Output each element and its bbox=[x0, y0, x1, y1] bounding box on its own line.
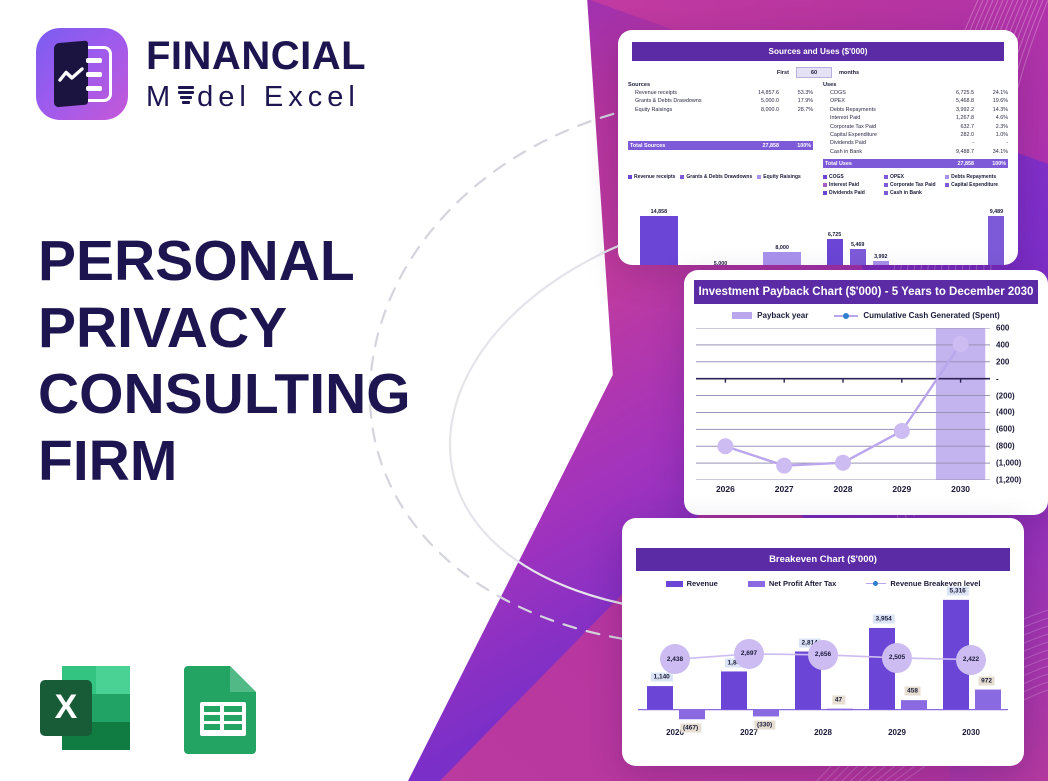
uses-bar-chart: 6,7255,4693,9921,26863328209,489 bbox=[823, 202, 1008, 265]
bar-column: 8,000 bbox=[763, 202, 801, 265]
legend-label: Capital Expenditure bbox=[951, 182, 998, 188]
bar-column: 1,268 bbox=[896, 202, 912, 265]
bar-value-label: 9,489 bbox=[990, 209, 1004, 215]
uses-header: Uses bbox=[823, 82, 1008, 88]
sources-value: 5,000.0 bbox=[739, 97, 779, 105]
bar-value-label: 14,858 bbox=[651, 209, 668, 215]
legend-label-cumulative-cash: Cumulative Cash Generated (Spent) bbox=[863, 311, 999, 320]
months-selector-row: First 60 months bbox=[618, 67, 1018, 78]
payback-y-axis-labels: 600400200-(200)(400)(600)(800)(1,000)(1,… bbox=[992, 328, 1044, 480]
legend-label: COGS bbox=[829, 174, 844, 180]
legend-item: Corporate Tax Paid bbox=[884, 182, 945, 188]
legend-swatch-icon bbox=[628, 175, 632, 179]
breakeven-plot-area: 1,140(467)2,4381,848(330)2,6972,814472,6… bbox=[638, 594, 1008, 722]
legend-label: Debts Repayments bbox=[951, 174, 996, 180]
revenue-value-label: 1,140 bbox=[651, 673, 673, 682]
sources-value: 8,000.0 bbox=[739, 106, 779, 114]
sources-and-uses-card[interactable]: Sources and Uses ($'000) First 60 months… bbox=[618, 30, 1018, 265]
legend-swatch-icon bbox=[823, 191, 827, 195]
legend-item-payback-year: Payback year bbox=[732, 311, 808, 320]
bar-column: 633 bbox=[919, 202, 935, 265]
financial-model-excel-logo-icon bbox=[36, 28, 128, 120]
payback-x-axis-labels: 20262027202820292030 bbox=[696, 484, 990, 494]
sources-row: Revenue receipts14,857.653.3% bbox=[628, 89, 813, 97]
uses-value: 282.0 bbox=[934, 131, 974, 139]
legend-swatch-icon bbox=[757, 175, 761, 179]
x-tick-label: 2029 bbox=[860, 728, 934, 737]
bar-value-label: 3,992 bbox=[874, 254, 888, 260]
bar-column: 6,725 bbox=[827, 202, 843, 265]
sources-pct: 17.9% bbox=[779, 97, 813, 105]
x-tick-label: 2028 bbox=[786, 728, 860, 737]
sources-pct: 53.3% bbox=[779, 89, 813, 97]
bar-value-label: 8,000 bbox=[775, 245, 789, 251]
sources-bar-chart: 14,8585,0008,000 bbox=[628, 202, 813, 265]
uses-label: Dividends Paid bbox=[823, 139, 934, 147]
net-profit-value-label: 458 bbox=[904, 687, 921, 696]
months-suffix-label: months bbox=[839, 70, 859, 76]
google-sheets-icon bbox=[174, 662, 272, 754]
legend-item: Cash in Bank bbox=[884, 190, 945, 196]
x-tick-label: 2029 bbox=[872, 484, 931, 494]
bar-rect bbox=[763, 252, 801, 265]
legend-item: Dividends Paid bbox=[823, 190, 884, 196]
uses-value: 1,267.8 bbox=[934, 114, 974, 122]
logo-document-shape bbox=[54, 41, 88, 108]
y-tick-label: 600 bbox=[996, 324, 1009, 333]
legend-item: OPEX bbox=[884, 174, 945, 180]
uses-pct: 19.6% bbox=[974, 97, 1008, 105]
cumulative-cash-line-icon bbox=[834, 315, 858, 317]
sources-spacer bbox=[628, 114, 813, 138]
bar-rect bbox=[850, 249, 866, 265]
legend-label-net-profit: Net Profit After Tax bbox=[769, 579, 837, 588]
uses-row: Debts Repayments3,992.214.3% bbox=[823, 106, 1008, 114]
sources-header: Sources bbox=[628, 82, 813, 88]
legend-item-cumulative-cash: Cumulative Cash Generated (Spent) bbox=[834, 311, 999, 320]
sources-uses-tables: Sources Revenue receipts14,857.653.3%Gra… bbox=[618, 78, 1018, 168]
legend-label: Dividends Paid bbox=[829, 190, 865, 196]
y-tick-label: (1,000) bbox=[996, 459, 1021, 468]
breakeven-level-line-icon bbox=[866, 583, 886, 585]
uses-label: Interest Paid bbox=[823, 114, 934, 122]
uses-value: 632.7 bbox=[934, 123, 974, 131]
sources-total-pct: 100% bbox=[779, 143, 813, 149]
legend-item: Revenue receipts bbox=[628, 174, 675, 180]
legend-swatch-icon bbox=[945, 175, 949, 179]
uses-pct: 24.1% bbox=[974, 89, 1008, 97]
app-icons: X bbox=[36, 662, 272, 754]
bar-column: 0 bbox=[965, 202, 981, 265]
months-input[interactable]: 60 bbox=[796, 67, 832, 78]
legend-swatch-icon bbox=[884, 175, 888, 179]
uses-table: Uses COGS6,725.524.1%OPEX5,468.819.6%Deb… bbox=[823, 82, 1008, 168]
uses-label: COGS bbox=[823, 89, 934, 97]
uses-label: Debts Repayments bbox=[823, 106, 934, 114]
y-tick-label: (600) bbox=[996, 425, 1015, 434]
uses-total-pct: 100% bbox=[974, 161, 1008, 167]
breakeven-card[interactable]: Breakeven Chart ($'000) Revenue Net Prof… bbox=[622, 518, 1024, 766]
legend-item: Grants & Debts Drawdowns bbox=[680, 174, 752, 180]
uses-row: COGS6,725.524.1% bbox=[823, 89, 1008, 97]
legend-item: Debts Repayments bbox=[945, 174, 1006, 180]
net-profit-value-label: (467) bbox=[680, 724, 701, 733]
legend-swatch-icon bbox=[823, 175, 827, 179]
uses-total-label: Total Uses bbox=[823, 161, 934, 167]
legend-label: Equity Raisings bbox=[763, 174, 801, 180]
uses-pct: 34.1% bbox=[974, 148, 1008, 156]
uses-total-value: 27,858 bbox=[934, 161, 974, 167]
uses-total-row: Total Uses 27,858 100% bbox=[823, 159, 1008, 168]
x-tick-label: 2026 bbox=[696, 484, 755, 494]
legend-swatch-icon bbox=[823, 183, 827, 187]
y-tick-label: (1,200) bbox=[996, 476, 1021, 485]
payback-year-swatch-icon bbox=[732, 312, 752, 319]
sources-label: Equity Raisings bbox=[628, 106, 739, 114]
brand-subtitle: M del Excel bbox=[146, 83, 366, 112]
brand-subtitle-prefix: M bbox=[146, 83, 175, 112]
sources-row: Equity Raisings8,000.028.7% bbox=[628, 106, 813, 114]
y-tick-label: (200) bbox=[996, 391, 1015, 400]
bar-column: 3,992 bbox=[873, 202, 889, 265]
bar-rect bbox=[988, 216, 1004, 265]
payback-plot-area: 600400200-(200)(400)(600)(800)(1,000)(1,… bbox=[696, 328, 990, 480]
sources-total-label: Total Sources bbox=[628, 143, 739, 149]
x-tick-label: 2028 bbox=[814, 484, 873, 494]
sources-label: Revenue receipts bbox=[628, 89, 739, 97]
uses-value: 3,992.2 bbox=[934, 106, 974, 114]
legend-label: OPEX bbox=[890, 174, 904, 180]
uses-pct: 14.3% bbox=[974, 106, 1008, 114]
investment-payback-title: Investment Payback Chart ($'000) - 5 Yea… bbox=[694, 280, 1038, 304]
sources-value: 14,857.6 bbox=[739, 89, 779, 97]
uses-row: Interest Paid1,267.84.6% bbox=[823, 114, 1008, 122]
bar-rect bbox=[873, 261, 889, 265]
logo-sheet-row-3 bbox=[86, 86, 102, 91]
y-tick-label: 200 bbox=[996, 357, 1009, 366]
legend-item: COGS bbox=[823, 174, 884, 180]
legend-label: Revenue receipts bbox=[634, 174, 675, 180]
bar-column: 5,469 bbox=[850, 202, 866, 265]
brand-logo: FINANCIAL M del Excel bbox=[36, 28, 366, 120]
sources-total-row: Total Sources 27,858 100% bbox=[628, 141, 813, 150]
payback-legend: Payback year Cumulative Cash Generated (… bbox=[684, 311, 1048, 320]
uses-label: OPEX bbox=[823, 97, 934, 105]
net-profit-swatch-icon bbox=[748, 581, 765, 587]
revenue-value-label: 5,316 bbox=[947, 586, 969, 595]
net-profit-value-label: 47 bbox=[832, 695, 845, 704]
x-tick-label: 2030 bbox=[934, 728, 1008, 737]
page-title: PERSONAL PRIVACY CONSULTING FIRM bbox=[38, 228, 468, 495]
uses-row: Capital Expenditure282.01.0% bbox=[823, 131, 1008, 139]
bar-column: 282 bbox=[942, 202, 958, 265]
sources-and-uses-title: Sources and Uses ($'000) bbox=[632, 42, 1004, 61]
uses-pct: - bbox=[974, 139, 1008, 147]
net-profit-value-label: (330) bbox=[754, 721, 775, 730]
logo-sheet-row-2 bbox=[86, 72, 102, 77]
legend-swatch-icon bbox=[945, 183, 949, 187]
investment-payback-card[interactable]: Investment Payback Chart ($'000) - 5 Yea… bbox=[684, 270, 1048, 515]
uses-row: Dividends Paid-- bbox=[823, 139, 1008, 147]
y-tick-label: 400 bbox=[996, 340, 1009, 349]
legend-label-revenue: Revenue bbox=[687, 579, 718, 588]
legend-label-payback-year: Payback year bbox=[757, 311, 808, 320]
y-tick-label: - bbox=[996, 374, 999, 383]
uses-value: 6,725.5 bbox=[934, 89, 974, 97]
bar-rect bbox=[827, 239, 843, 265]
logo-sheet-row-1 bbox=[86, 58, 102, 63]
legend-swatch-icon bbox=[884, 183, 888, 187]
uses-label: Cash in Bank bbox=[823, 148, 934, 156]
bar-rect bbox=[640, 216, 678, 265]
uses-value: 5,468.8 bbox=[934, 97, 974, 105]
breakeven-title: Breakeven Chart ($'000) bbox=[636, 548, 1010, 571]
bar-value-label: 6,725 bbox=[828, 232, 842, 238]
sources-row: Grants & Debts Drawdowns5,000.017.9% bbox=[628, 97, 813, 105]
sources-uses-legends: Revenue receiptsGrants & Debts Drawdowns… bbox=[618, 168, 1018, 198]
breakeven-level-value-label: 2,656 bbox=[808, 640, 838, 670]
uses-label: Corporate Tax Paid bbox=[823, 123, 934, 131]
uses-label: Capital Expenditure bbox=[823, 131, 934, 139]
bar-column: 14,858 bbox=[640, 202, 678, 265]
bar-column: 9,489 bbox=[988, 202, 1004, 265]
uses-pct: 4.6% bbox=[974, 114, 1008, 122]
y-tick-label: (800) bbox=[996, 442, 1015, 451]
breakeven-level-value-label: 2,697 bbox=[734, 639, 764, 669]
brand-title: FINANCIAL bbox=[146, 36, 366, 76]
uses-row: OPEX5,468.819.6% bbox=[823, 97, 1008, 105]
bar-value-label: 5,000 bbox=[714, 261, 728, 265]
sources-legend: Revenue receiptsGrants & Debts Drawdowns… bbox=[628, 174, 813, 182]
breakeven-level-value-label: 2,505 bbox=[882, 643, 912, 673]
revenue-value-label: 3,954 bbox=[873, 615, 895, 624]
legend-item: Interest Paid bbox=[823, 182, 884, 188]
months-prefix-label: First bbox=[777, 70, 789, 76]
y-tick-label: (400) bbox=[996, 408, 1015, 417]
uses-value: 9,488.7 bbox=[934, 148, 974, 156]
sources-pct: 28.7% bbox=[779, 106, 813, 114]
brand-text: FINANCIAL M del Excel bbox=[146, 36, 366, 112]
breakeven-level-value-label: 2,422 bbox=[956, 645, 986, 675]
legend-swatch-icon bbox=[680, 175, 684, 179]
uses-row: Corporate Tax Paid632.72.3% bbox=[823, 123, 1008, 131]
uses-row: Cash in Bank9,488.734.1% bbox=[823, 148, 1008, 156]
legend-label: Grants & Debts Drawdowns bbox=[686, 174, 752, 180]
sources-total-value: 27,858 bbox=[739, 143, 779, 149]
revenue-swatch-icon bbox=[666, 581, 683, 587]
uses-pct: 2.3% bbox=[974, 123, 1008, 131]
sources-uses-charts: 14,8585,0008,000 6,7255,4693,9921,268633… bbox=[618, 198, 1018, 265]
legend-item: Capital Expenditure bbox=[945, 182, 1006, 188]
brand-subtitle-o-glyph-icon bbox=[176, 84, 196, 106]
x-tick-label: 2027 bbox=[755, 484, 814, 494]
legend-label: Cash in Bank bbox=[890, 190, 922, 196]
legend-label: Corporate Tax Paid bbox=[890, 182, 935, 188]
sources-label: Grants & Debts Drawdowns bbox=[628, 97, 739, 105]
x-tick-label: 2030 bbox=[931, 484, 990, 494]
svg-text:X: X bbox=[55, 688, 78, 726]
microsoft-excel-icon: X bbox=[36, 662, 134, 754]
sources-table: Sources Revenue receipts14,857.653.3%Gra… bbox=[628, 82, 813, 168]
payback-line-chart bbox=[696, 328, 990, 480]
brand-subtitle-suffix: del Excel bbox=[197, 83, 360, 112]
legend-label: Interest Paid bbox=[829, 182, 859, 188]
uses-pct: 1.0% bbox=[974, 131, 1008, 139]
breakeven-level-value-label: 2,438 bbox=[660, 644, 690, 674]
legend-item-revenue: Revenue bbox=[666, 579, 718, 588]
uses-value: - bbox=[934, 139, 974, 147]
bar-value-label: 5,469 bbox=[851, 242, 865, 248]
net-profit-value-label: 972 bbox=[978, 676, 995, 685]
legend-item: Equity Raisings bbox=[757, 174, 801, 180]
uses-legend: COGSOPEXDebts RepaymentsInterest PaidCor… bbox=[823, 174, 1008, 198]
legend-swatch-icon bbox=[884, 191, 888, 195]
bar-column: 5,000 bbox=[701, 202, 739, 265]
logo-chart-line-icon bbox=[58, 67, 84, 85]
legend-item-net-profit: Net Profit After Tax bbox=[748, 579, 837, 588]
